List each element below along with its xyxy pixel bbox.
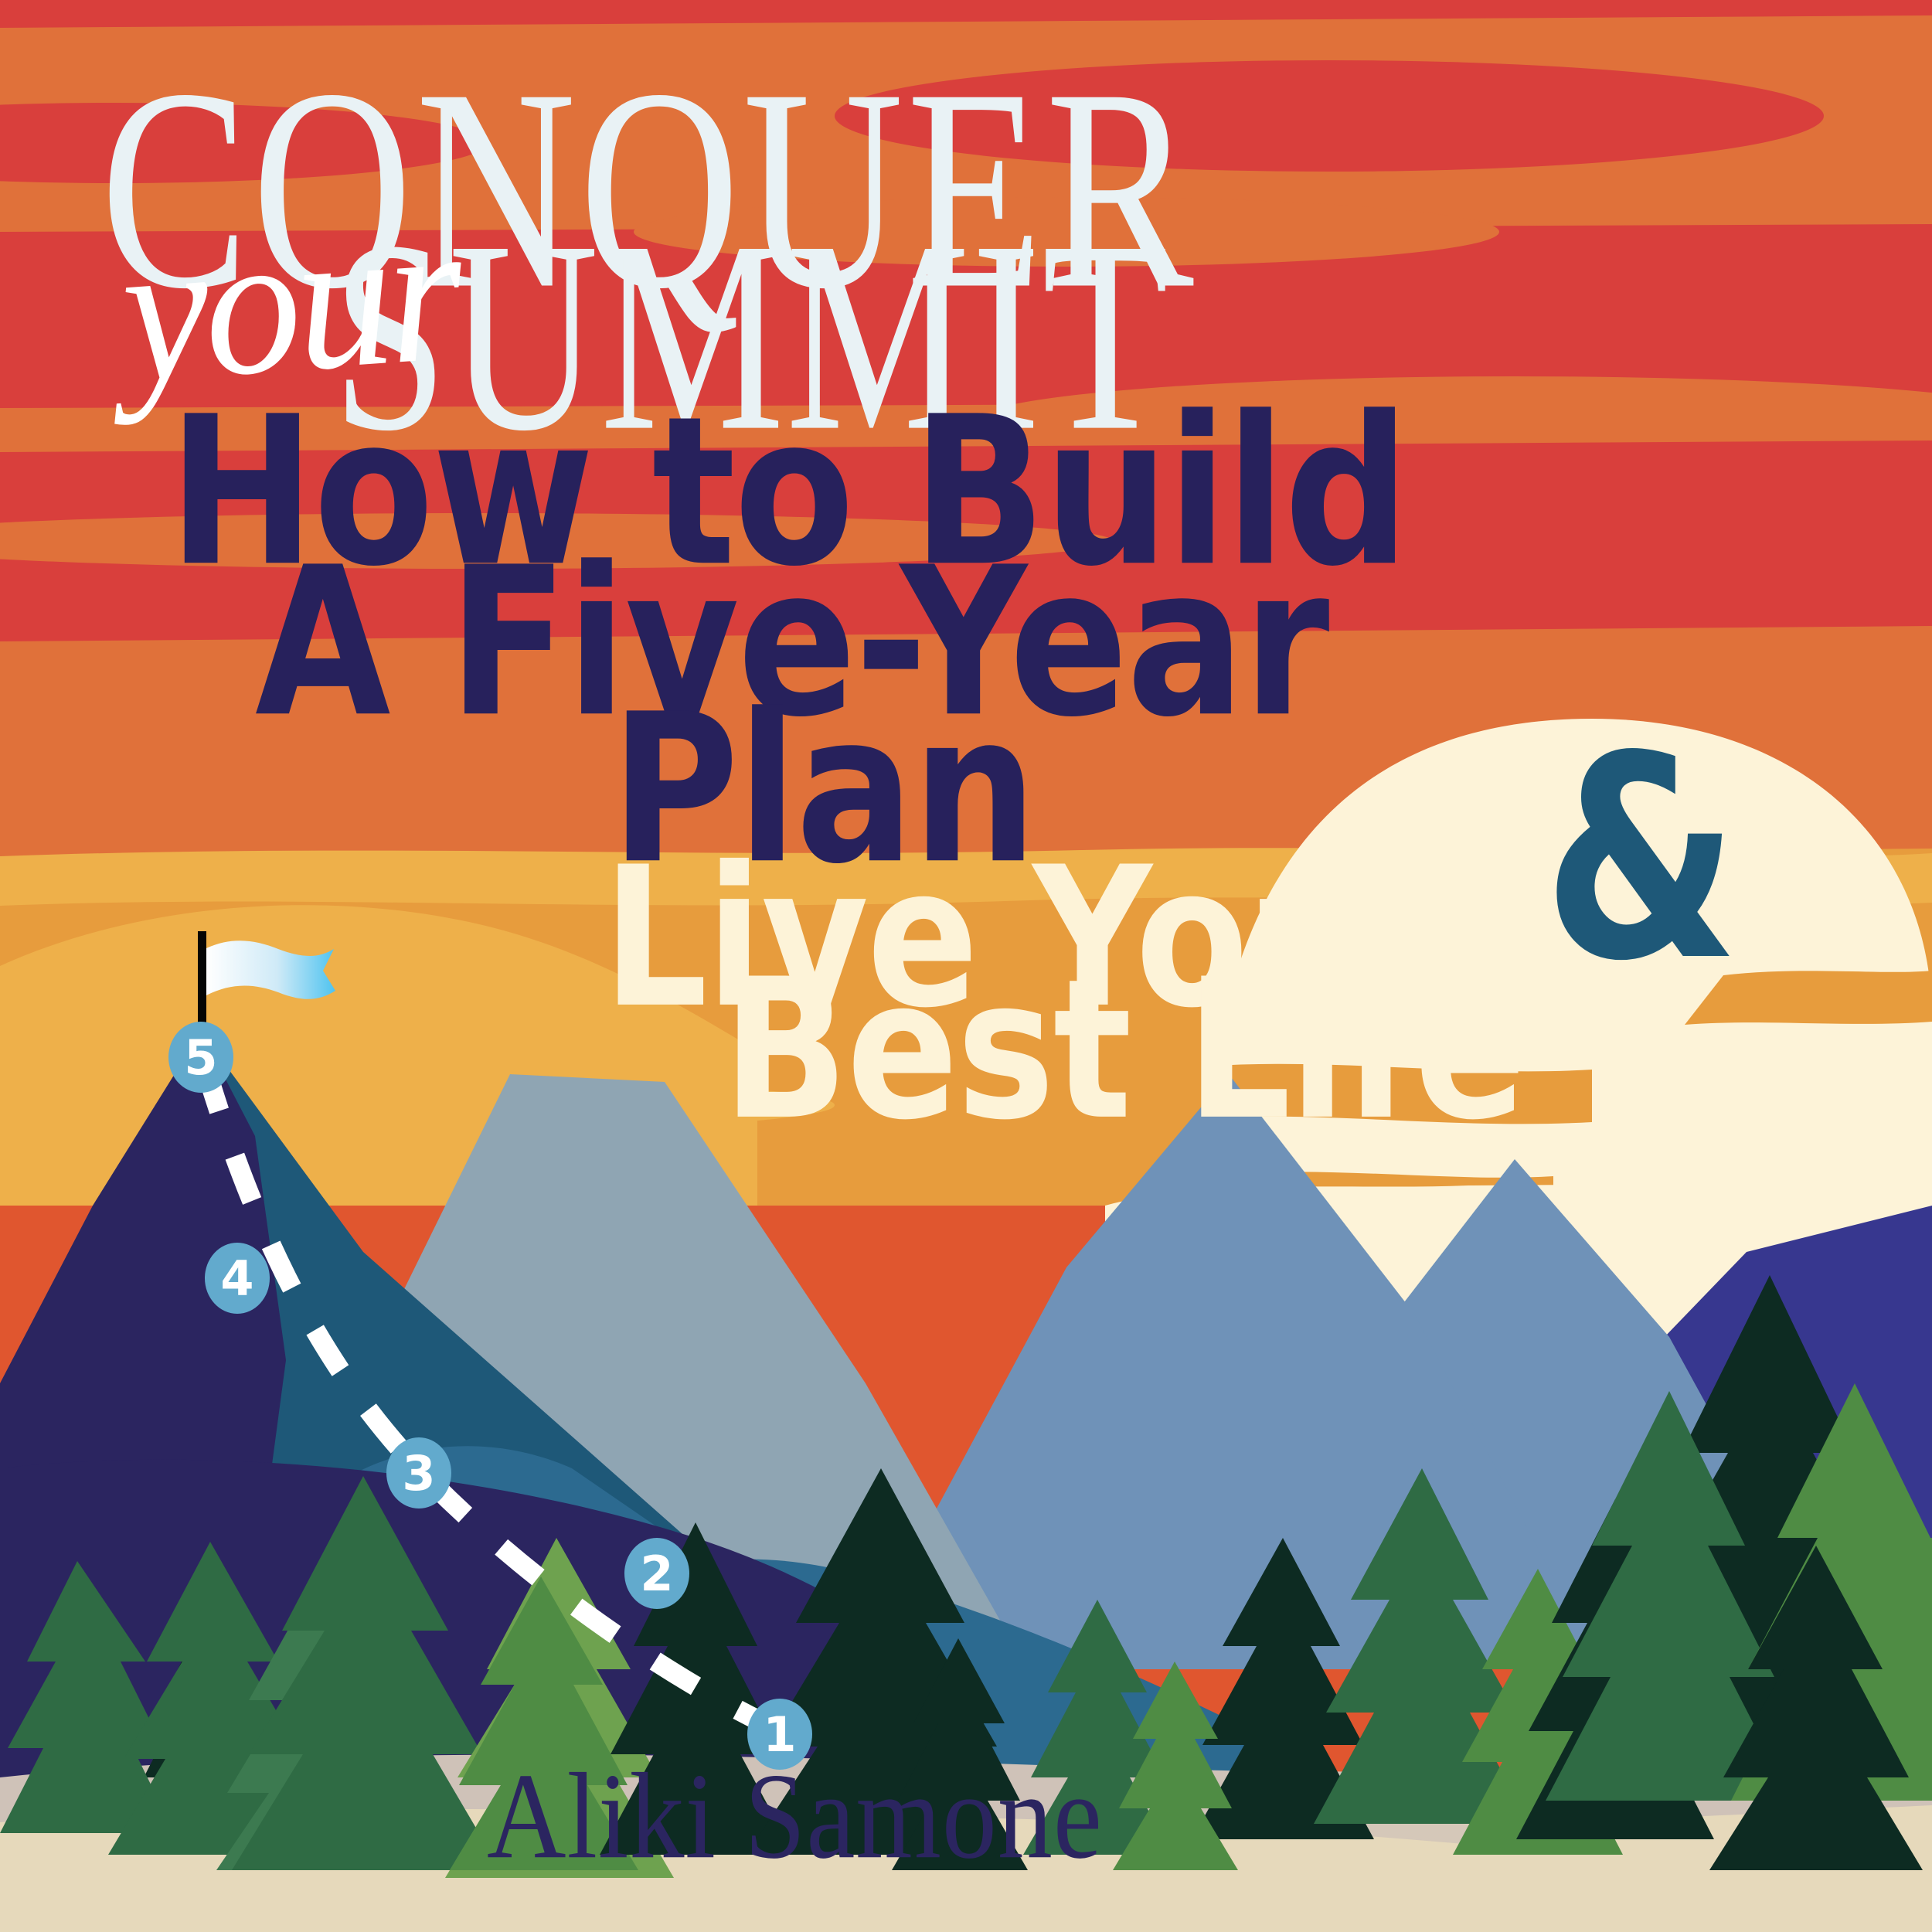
path-marker-2: 2 [624, 1538, 689, 1609]
path-marker-3: 3 [386, 1437, 451, 1509]
author-name: Aliki Samone [487, 1754, 1103, 1877]
path-marker-4: 4 [205, 1243, 270, 1314]
subtitle-line-5: Best Life [723, 954, 1525, 1148]
ampersand-glyph: & [1543, 697, 1739, 1022]
book-cover: CONQUER SUMMIT your How to Build A Five-… [0, 0, 1932, 1932]
path-marker-5: 5 [168, 1022, 233, 1093]
